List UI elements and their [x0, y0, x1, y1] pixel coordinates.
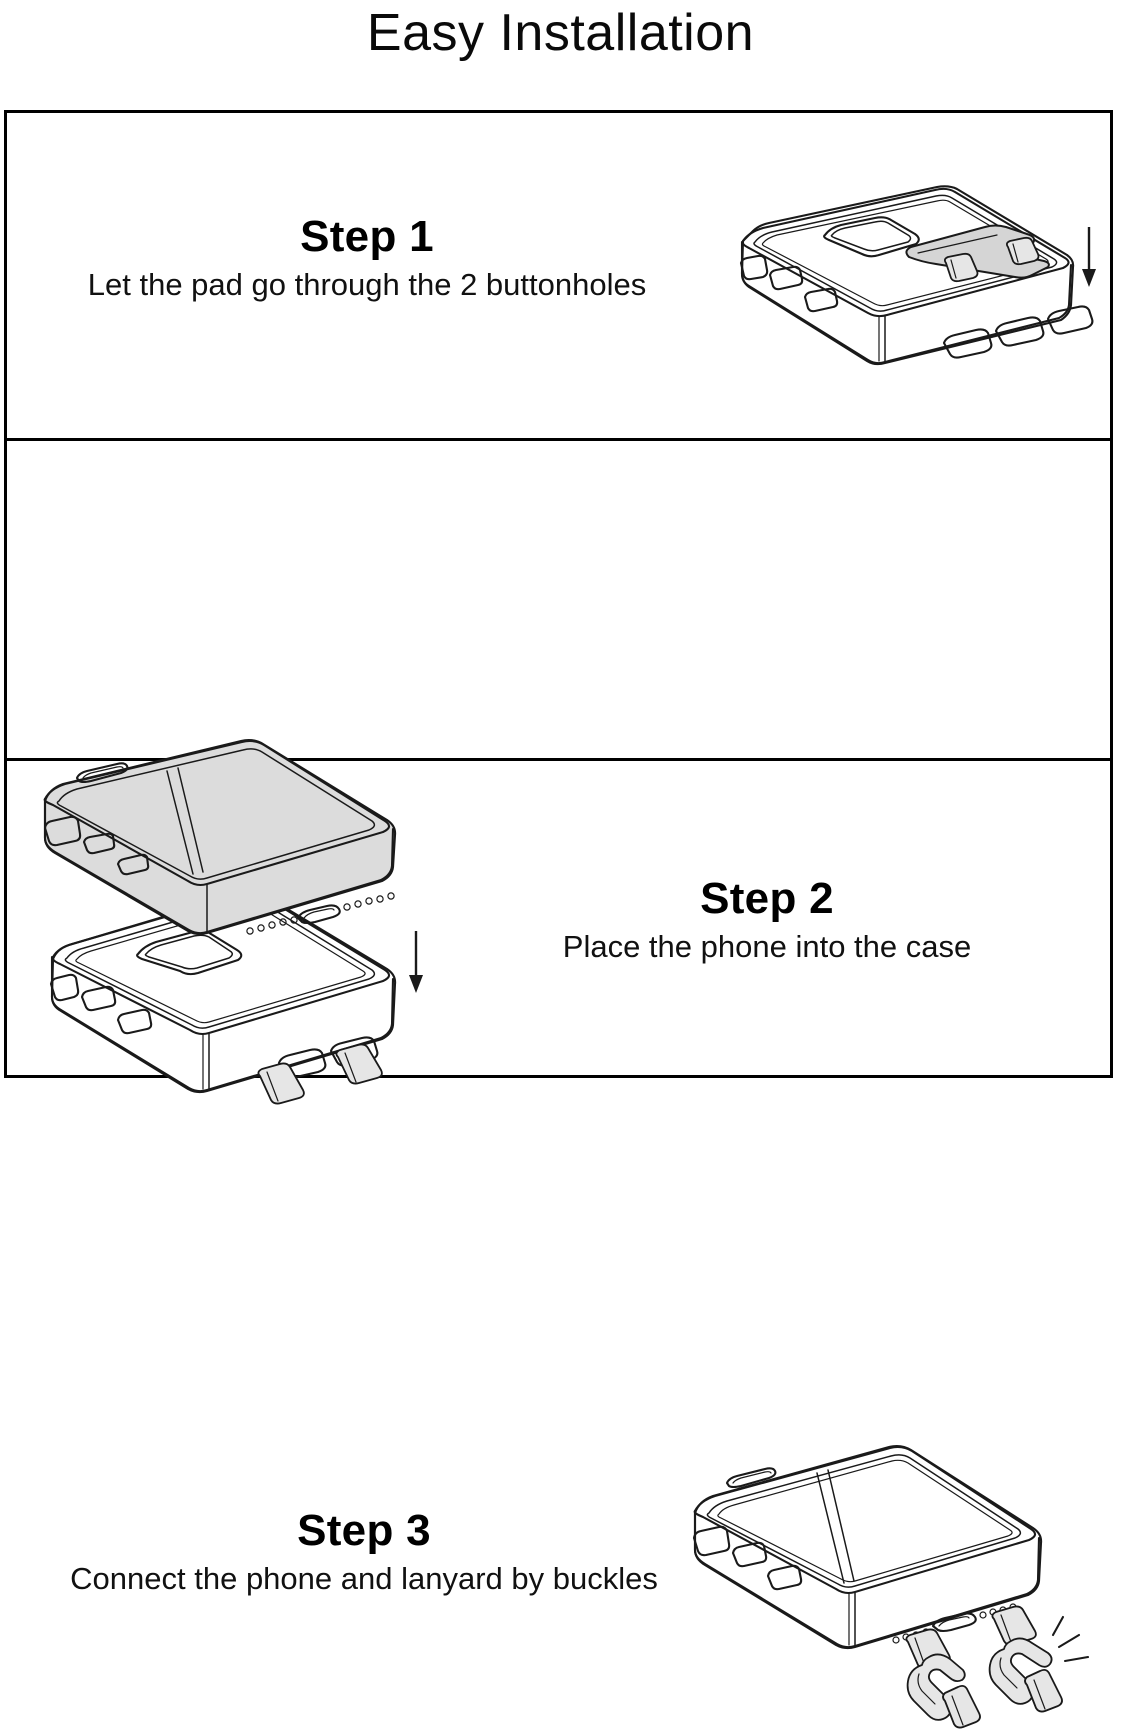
page-title: Easy Installation: [0, 2, 1121, 64]
instruction-sheet: Easy Installation Step 1 Let the pad go …: [0, 0, 1121, 1089]
panels-frame: Step 1 Let the pad go through the 2 butt…: [4, 110, 1113, 1078]
buckle-closed-icon: [908, 1654, 980, 1727]
phone-case-body: [742, 186, 1073, 364]
phone-in-case-body: [695, 1446, 1041, 1648]
speaker-dots-left: [893, 1629, 929, 1643]
phone-case-with-pad-drawing: [697, 165, 1107, 435]
step-3-text-block: Step 3 Connect the phone and lanyard by …: [29, 1505, 699, 1599]
step-3-caption: Connect the phone and lanyard by buckles: [29, 1559, 699, 1599]
click-marks-icon: [1053, 1617, 1088, 1661]
screen-edge-lines: [817, 1470, 854, 1583]
side-buttons-icon: [694, 1527, 801, 1589]
step-1-caption: Let the pad go through the 2 buttonholes: [37, 265, 697, 305]
bottom-speaker-holes-icon: [944, 306, 1092, 357]
earpiece-speaker-icon: [727, 1468, 775, 1487]
gray-pad-shape: [906, 226, 1048, 282]
step-1-heading: Step 1: [37, 211, 697, 263]
camera-cutout-icon: [824, 217, 919, 256]
step-panel-3: Step 3 Connect the phone and lanyard by …: [7, 761, 1110, 1075]
step-3-illustration: [667, 1421, 1117, 1726]
step-panel-1: Step 1 Let the pad go through the 2 butt…: [7, 113, 1110, 438]
speaker-dots-right: [980, 1604, 1016, 1618]
step-3-heading: Step 3: [29, 1505, 699, 1557]
step-panel-2: Step 2 Place the phone into the case: [7, 438, 1110, 761]
step-1-text-block: Step 1 Let the pad go through the 2 butt…: [37, 211, 697, 305]
buckle-open-icon: [990, 1638, 1062, 1711]
charging-port-icon: [933, 1613, 976, 1631]
step-1-illustration: [697, 165, 1107, 430]
assembled-phone-with-buckles-drawing: [667, 1421, 1117, 1731]
down-arrow-icon: [1082, 227, 1096, 287]
side-buttons-icon: [741, 256, 837, 311]
pad-tabs-protruding: [906, 1606, 1036, 1668]
